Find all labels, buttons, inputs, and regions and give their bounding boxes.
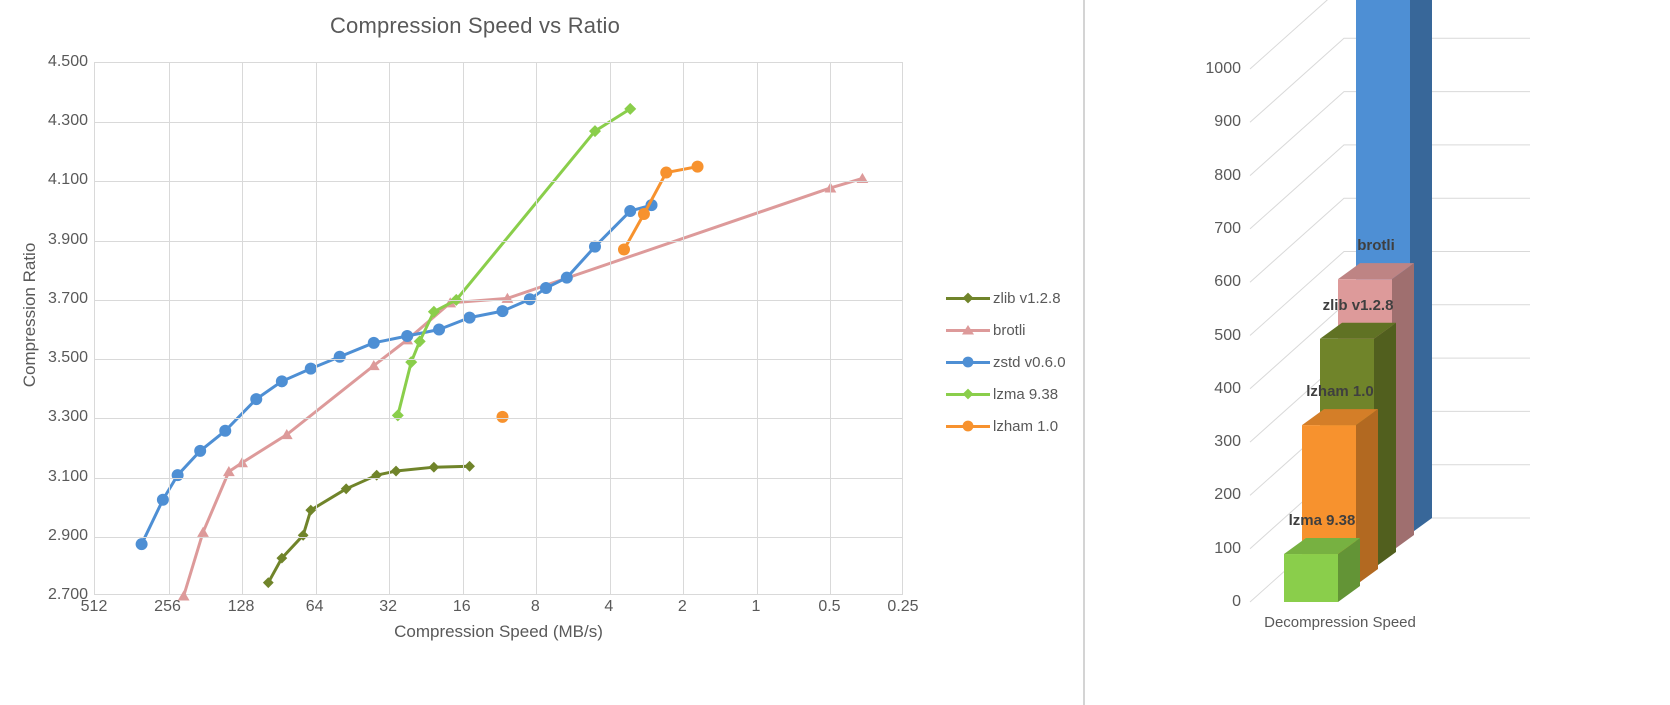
data-point[interactable] <box>692 161 704 173</box>
legend-item-brotli[interactable]: brotli <box>946 314 1076 346</box>
scatter-gridline-vertical <box>242 63 243 594</box>
data-point[interactable] <box>219 425 231 437</box>
scatter-gridline-vertical <box>830 63 831 594</box>
scatter-gridline-vertical <box>169 63 170 594</box>
scatter-x-tick-label: 8 <box>531 598 540 616</box>
scatter-series-zlib-v1-2-8[interactable] <box>263 461 475 588</box>
legend-item-label: lzham 1.0 <box>993 418 1058 435</box>
data-point[interactable] <box>371 470 382 481</box>
series-line <box>398 109 630 415</box>
scatter-x-tick-label: 64 <box>306 598 324 616</box>
scatter-gridline-horizontal <box>95 537 902 538</box>
data-point[interactable] <box>589 241 601 253</box>
scatter-series-lzma-9-38[interactable] <box>392 103 636 421</box>
legend-marker-icon <box>946 321 990 339</box>
bar-data-label: lzma 9.38 <box>1289 512 1356 529</box>
data-point[interactable] <box>334 351 346 363</box>
scatter-gridline-horizontal <box>95 122 902 123</box>
data-point[interactable] <box>157 494 169 506</box>
scatter-plot-area <box>94 62 903 595</box>
scatter-chart-title: Compression Speed vs Ratio <box>0 13 950 39</box>
legend-item-label: zstd v0.6.0 <box>993 354 1066 371</box>
bar-y-tick-label: 800 <box>1214 167 1241 185</box>
scatter-gridline-vertical <box>757 63 758 594</box>
bar-series-layer <box>1085 0 1670 705</box>
legend-item-lzham-1-0[interactable]: lzham 1.0 <box>946 410 1076 442</box>
data-point[interactable] <box>433 324 445 336</box>
bar-chart-panel: 01002003004005006007008009001000 Decompr… <box>1085 0 1670 705</box>
scatter-x-tick-label: 256 <box>154 598 181 616</box>
scatter-y-tick-label: 2.700 <box>4 586 88 604</box>
series-line <box>268 466 469 582</box>
data-point[interactable] <box>405 356 417 368</box>
data-point[interactable] <box>561 272 573 284</box>
scatter-gridline-horizontal <box>95 359 902 360</box>
bar-category-label: Decompression Speed <box>1240 612 1440 634</box>
scatter-gridline-horizontal <box>95 181 902 182</box>
scatter-y-tick-label: 4.100 <box>4 171 88 189</box>
data-point[interactable] <box>660 167 672 179</box>
scatter-y-axis-title: Compression Ratio <box>20 55 40 575</box>
scatter-y-tick-label: 3.700 <box>4 290 88 308</box>
scatter-legend: zlib v1.2.8brotlizstd v0.6.0lzma 9.38lzh… <box>946 282 1076 442</box>
legend-item-zlib-v1-2-8[interactable]: zlib v1.2.8 <box>946 282 1076 314</box>
scatter-gridline-vertical <box>610 63 611 594</box>
scatter-y-tick-label: 4.500 <box>4 53 88 71</box>
bar-front-face[interactable] <box>1284 554 1338 602</box>
scatter-gridline-vertical <box>683 63 684 594</box>
bar-y-tick-label: 400 <box>1214 380 1241 398</box>
legend-marker-icon <box>946 353 990 371</box>
scatter-gridline-vertical <box>389 63 390 594</box>
bar-y-tick-label: 300 <box>1214 433 1241 451</box>
bar-data-label: brotli <box>1357 237 1395 254</box>
bar-y-tick-label: 1000 <box>1205 60 1241 78</box>
bar-y-tick-label: 100 <box>1214 540 1241 558</box>
data-point[interactable] <box>276 375 288 387</box>
data-point[interactable] <box>178 590 190 600</box>
scatter-x-tick-label: 128 <box>228 598 255 616</box>
scatter-x-tick-label: 512 <box>81 598 108 616</box>
chart-page: Compression Speed vs Ratio 2.7002.9003.1… <box>0 0 1670 705</box>
scatter-chart-panel: Compression Speed vs Ratio 2.7002.9003.1… <box>0 0 1083 705</box>
data-point[interactable] <box>428 306 440 318</box>
scatter-x-tick-label: 16 <box>453 598 471 616</box>
legend-item-lzma-9-38[interactable]: lzma 9.38 <box>946 378 1076 410</box>
scatter-y-tick-label: 3.500 <box>4 349 88 367</box>
scatter-gridline-horizontal <box>95 478 902 479</box>
bar-y-tick-label: 0 <box>1232 593 1241 611</box>
scatter-series-zstd-v0-6-0[interactable] <box>136 199 658 550</box>
scatter-gridline-horizontal <box>95 418 902 419</box>
data-point[interactable] <box>496 305 508 317</box>
scatter-x-tick-label: 4 <box>604 598 613 616</box>
data-point[interactable] <box>391 466 402 477</box>
legend-item-label: brotli <box>993 322 1026 339</box>
scatter-y-tick-label: 2.900 <box>4 527 88 545</box>
scatter-series-layer <box>95 63 904 596</box>
legend-marker-icon <box>946 417 990 435</box>
scatter-y-tick-label: 3.300 <box>4 408 88 426</box>
data-point[interactable] <box>194 445 206 457</box>
scatter-x-tick-label: 1 <box>751 598 760 616</box>
legend-marker-icon <box>946 289 990 307</box>
data-point[interactable] <box>368 337 380 349</box>
data-point[interactable] <box>172 469 184 481</box>
scatter-gridline-horizontal <box>95 241 902 242</box>
scatter-y-axis-ticks: 2.7002.9003.1003.3003.5003.7003.9004.100… <box>0 62 88 595</box>
data-point[interactable] <box>496 411 508 423</box>
data-point[interactable] <box>428 462 439 473</box>
data-point[interactable] <box>624 205 636 217</box>
bar-data-label: zlib v1.2.8 <box>1323 297 1394 314</box>
scatter-x-tick-label: 32 <box>379 598 397 616</box>
data-point[interactable] <box>638 208 650 220</box>
scatter-y-tick-label: 4.300 <box>4 112 88 130</box>
data-point[interactable] <box>618 244 630 256</box>
scatter-y-tick-label: 3.100 <box>4 468 88 486</box>
legend-item-label: zlib v1.2.8 <box>993 290 1061 307</box>
scatter-x-tick-label: 0.25 <box>887 598 918 616</box>
legend-item-label: lzma 9.38 <box>993 386 1058 403</box>
data-point[interactable] <box>136 538 148 550</box>
data-point[interactable] <box>197 527 209 537</box>
bar-y-tick-label: 500 <box>1214 327 1241 345</box>
bar-lzma-9-38[interactable] <box>1284 538 1360 602</box>
data-point[interactable] <box>540 282 552 294</box>
data-point[interactable] <box>392 409 404 421</box>
bar-y-tick-label: 700 <box>1214 220 1241 238</box>
scatter-gridline-vertical <box>536 63 537 594</box>
data-point[interactable] <box>401 330 413 342</box>
scatter-gridline-vertical <box>463 63 464 594</box>
scatter-series-lzham-1-0-isolated[interactable] <box>496 411 508 423</box>
scatter-y-tick-label: 3.900 <box>4 231 88 249</box>
scatter-x-tick-label: 0.5 <box>818 598 840 616</box>
bar-y-tick-label: 600 <box>1214 273 1241 291</box>
data-point[interactable] <box>464 461 475 472</box>
data-point[interactable] <box>250 393 262 405</box>
bar-y-tick-label: 200 <box>1214 486 1241 504</box>
bar-data-label: lzham 1.0 <box>1306 383 1374 400</box>
bar-y-axis-ticks: 01002003004005006007008009001000 <box>1185 0 1241 705</box>
scatter-x-axis-title: Compression Speed (MB/s) <box>94 622 903 642</box>
scatter-x-tick-label: 2 <box>678 598 687 616</box>
legend-item-zstd-v0-6-0[interactable]: zstd v0.6.0 <box>946 346 1076 378</box>
scatter-x-axis-ticks: 51225612864321684210.50.25 <box>94 598 903 624</box>
scatter-gridline-horizontal <box>95 300 902 301</box>
data-point[interactable] <box>414 335 426 347</box>
data-point[interactable] <box>464 312 476 324</box>
bar-y-tick-label: 900 <box>1214 113 1241 131</box>
scatter-gridline-vertical <box>316 63 317 594</box>
legend-marker-icon <box>946 385 990 403</box>
